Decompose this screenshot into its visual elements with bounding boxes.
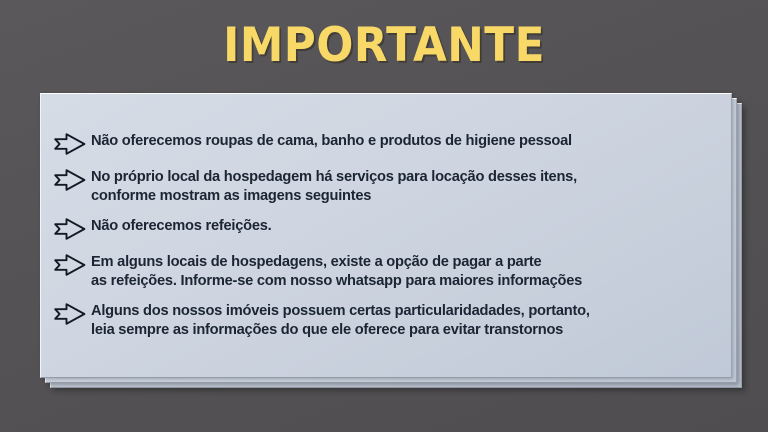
list-item: Não oferecemos roupas de cama, banho e p… bbox=[53, 131, 725, 156]
list-item-label: Alguns dos nossos imóveis possuem certas… bbox=[91, 301, 590, 339]
slide-canvas: IMPORTANTE Não oferecemos roupas de cama… bbox=[0, 0, 768, 432]
bullet-list: Não oferecemos roupas de cama, banho e p… bbox=[41, 94, 733, 379]
content-panel-stack: Não oferecemos roupas de cama, banho e p… bbox=[40, 93, 732, 378]
block-arrow-right-icon bbox=[53, 168, 87, 192]
list-item: Alguns dos nossos imóveis possuem certas… bbox=[53, 301, 725, 339]
page-title: IMPORTANTE bbox=[27, 18, 741, 74]
list-item-label: Não oferecemos refeições. bbox=[91, 216, 272, 235]
list-item-label: Não oferecemos roupas de cama, banho e p… bbox=[91, 131, 572, 150]
block-arrow-right-icon bbox=[53, 217, 87, 241]
list-item-label: No próprio local da hospedagem há serviç… bbox=[91, 167, 577, 205]
block-arrow-right-icon bbox=[53, 253, 87, 277]
content-panel: Não oferecemos roupas de cama, banho e p… bbox=[40, 93, 732, 378]
list-item-label: Em alguns locais de hospedagens, existe … bbox=[91, 252, 582, 290]
block-arrow-right-icon bbox=[53, 302, 87, 326]
list-item: Não oferecemos refeições. bbox=[53, 216, 725, 241]
block-arrow-right-icon bbox=[53, 132, 87, 156]
list-item: No próprio local da hospedagem há serviç… bbox=[53, 167, 725, 205]
list-item: Em alguns locais de hospedagens, existe … bbox=[53, 252, 725, 290]
